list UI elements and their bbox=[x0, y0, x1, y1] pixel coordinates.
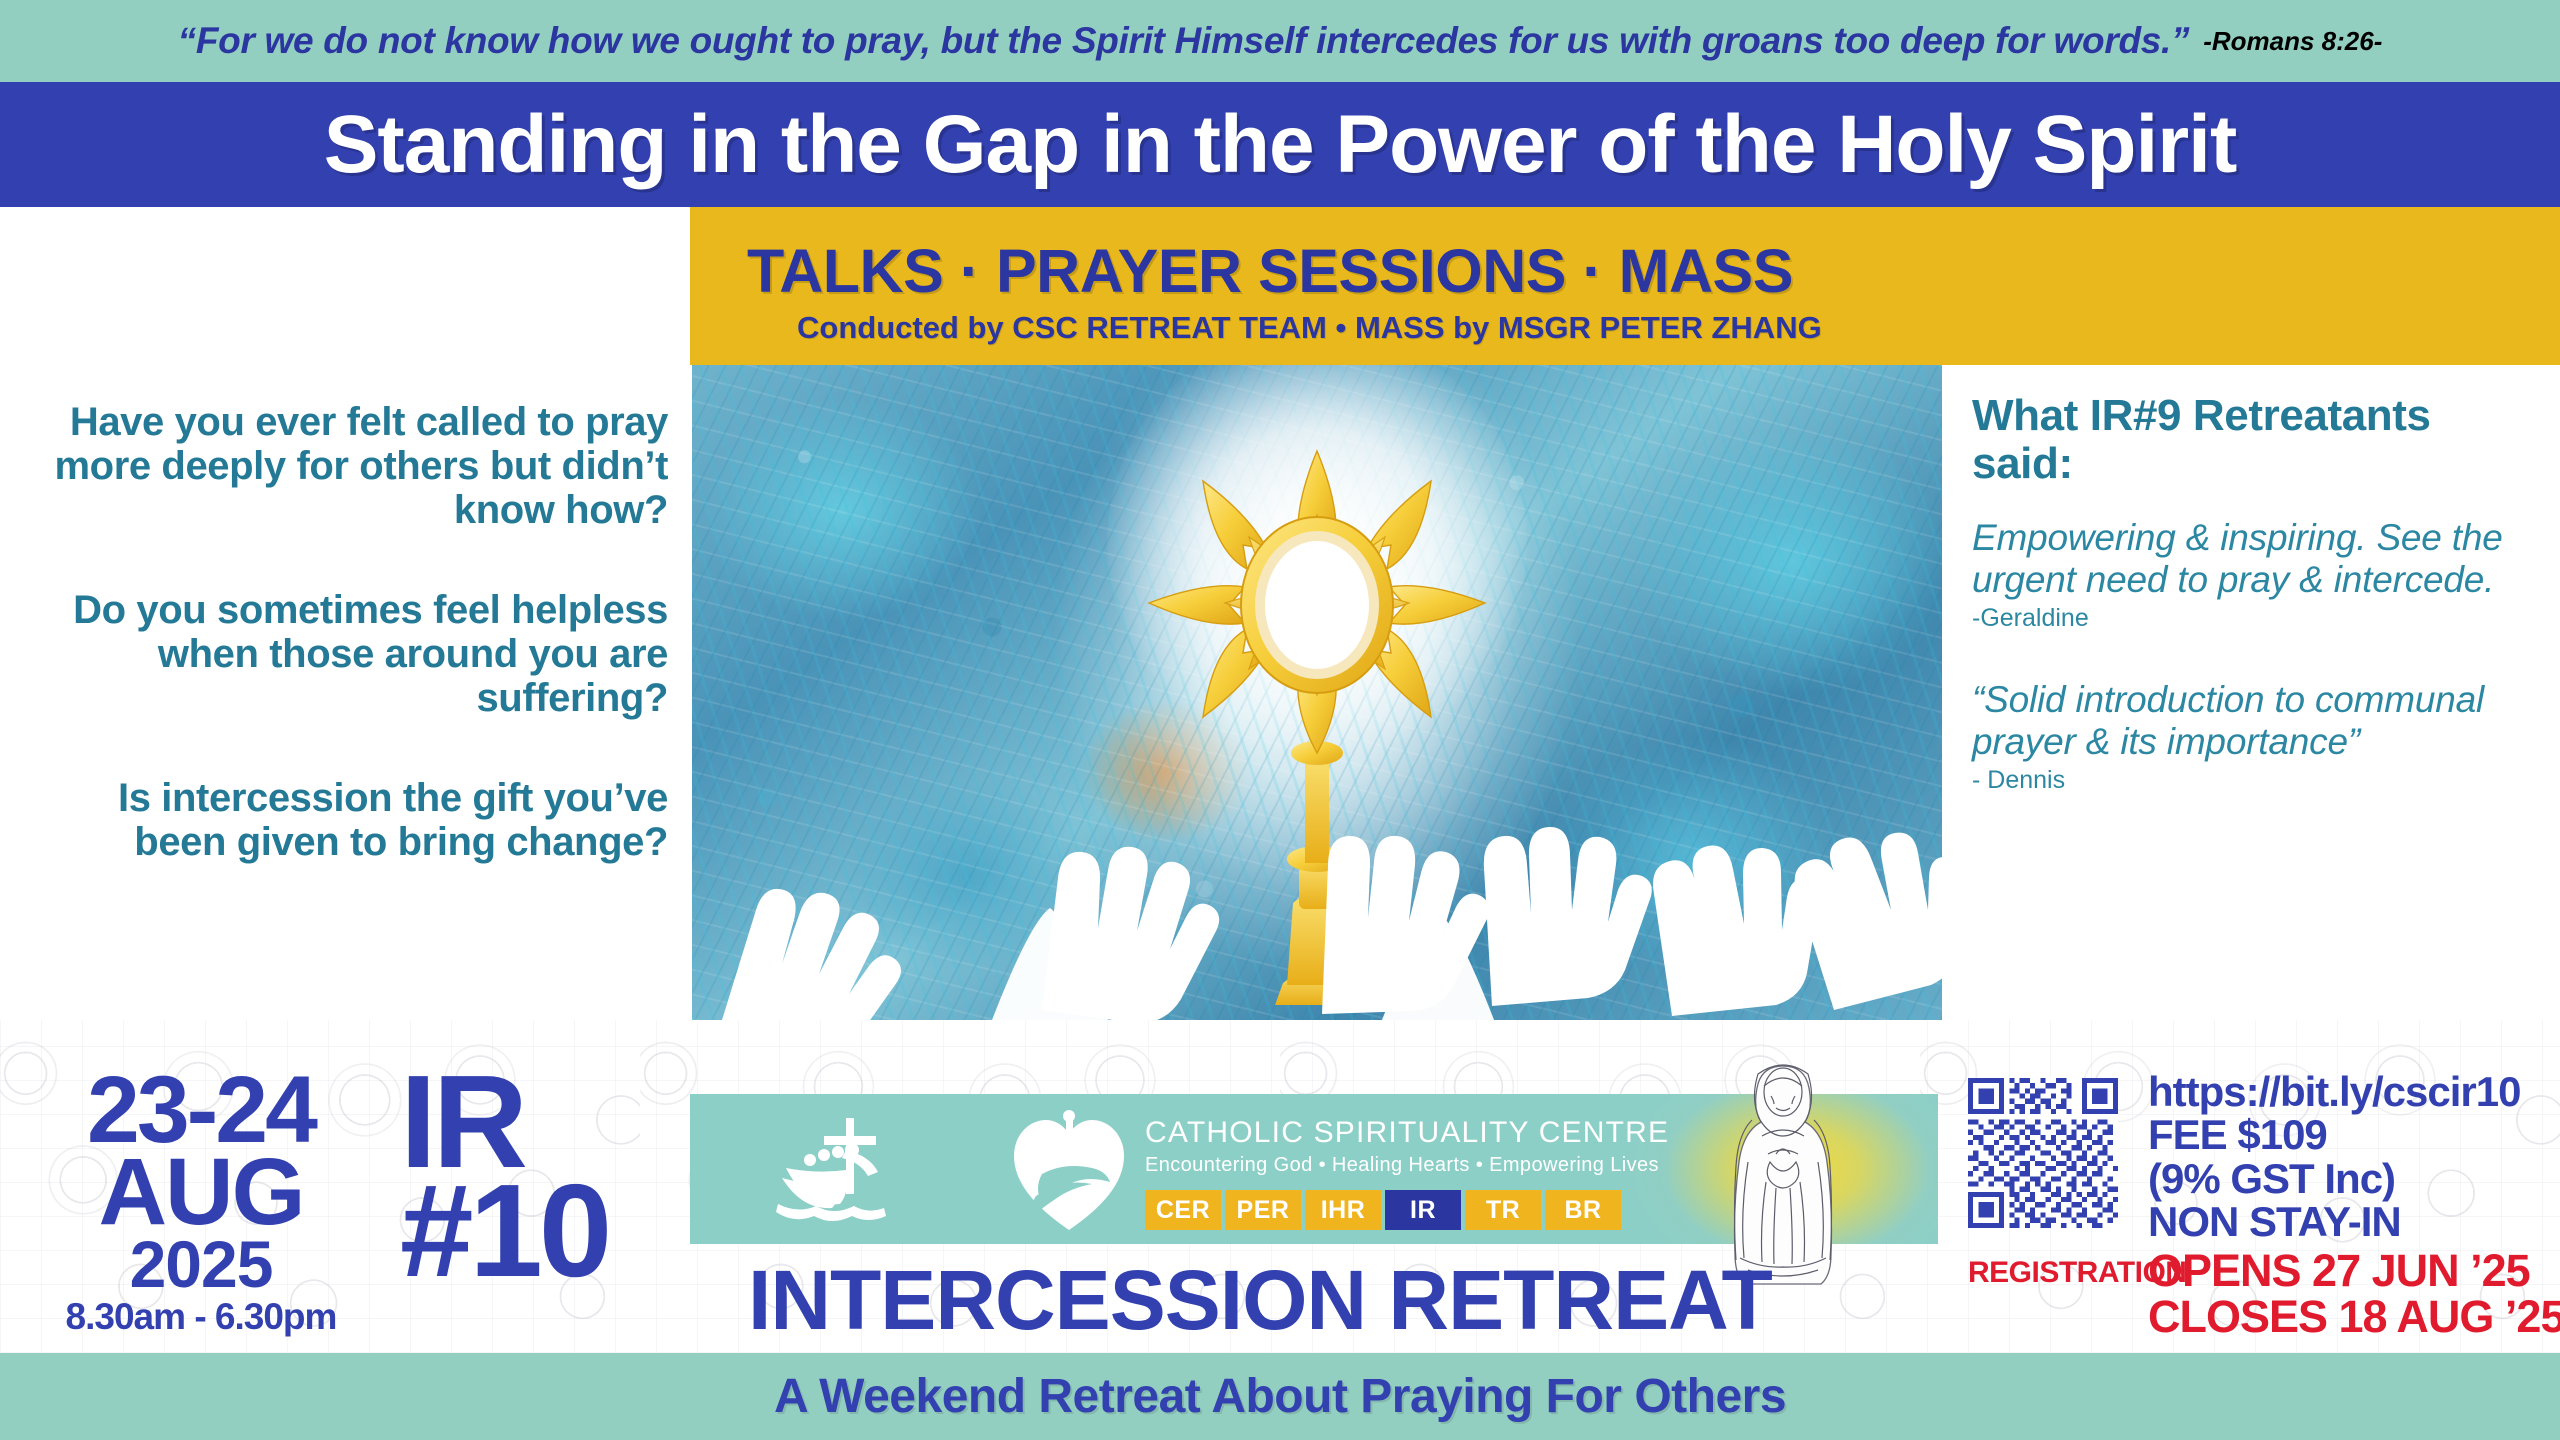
organization-tagline: Encountering God • Healing Hearts • Empo… bbox=[1145, 1154, 1659, 1177]
registration-gst: (9% GST Inc) bbox=[2148, 1157, 2520, 1200]
hero-image bbox=[692, 365, 1942, 1020]
program-headline: TALKS · PRAYER SESSIONS · MASS bbox=[747, 236, 1793, 306]
retreat-poster: “For we do not know how we ought to pray… bbox=[0, 0, 2560, 1440]
question-list: Have you ever felt called to pray more d… bbox=[18, 400, 668, 864]
raised-hands-illustration bbox=[692, 760, 1942, 1020]
testimonial-attribution: -Geraldine bbox=[1972, 604, 2542, 633]
question-item: Have you ever felt called to pray more d… bbox=[18, 400, 668, 532]
registration-details: https://bit.ly/cscir10 FEE $109 (9% GST … bbox=[2148, 1070, 2520, 1243]
testimonial-attribution: - Dennis bbox=[1972, 766, 2542, 795]
event-time: 8.30am - 6.30pm bbox=[36, 1298, 366, 1335]
testimonial-item: “Solid introduction to communal prayer &… bbox=[1972, 679, 2542, 795]
registration-opens: OPENS 27 JUN ’25 bbox=[2148, 1248, 2560, 1294]
program-tag-br[interactable]: BR bbox=[1545, 1190, 1621, 1230]
question-item: Is intercession the gift you’ve been giv… bbox=[18, 776, 668, 864]
scripture-strip: “For we do not know how we ought to pray… bbox=[0, 0, 2560, 82]
testimonial-quote: “Solid introduction to communal prayer &… bbox=[1972, 679, 2542, 764]
program-subline: Conducted by CSC RETREAT TEAM • MASS by … bbox=[797, 310, 1822, 346]
program-banner: TALKS · PRAYER SESSIONS · MASS Conducted… bbox=[690, 207, 2560, 365]
event-month: AUG bbox=[36, 1152, 366, 1234]
program-tag-row: CER PER IHR IR TR BR bbox=[1145, 1190, 1621, 1230]
program-tag-cer[interactable]: CER bbox=[1145, 1190, 1221, 1230]
testimonials-section: What IR#9 Retreatants said: Empowering &… bbox=[1972, 392, 2542, 795]
scripture-reference: -Romans 8:26- bbox=[2203, 26, 2382, 57]
sailboat-cross-icon bbox=[772, 1112, 892, 1227]
event-code-block: IR #10 bbox=[400, 1068, 608, 1287]
registration-url[interactable]: https://bit.ly/cscir10 bbox=[2148, 1070, 2520, 1113]
page-title: Standing in the Gap in the Power of the … bbox=[324, 98, 2237, 192]
event-date-block: 23-24 AUG 2025 8.30am - 6.30pm bbox=[36, 1070, 366, 1335]
registration-fee: FEE $109 bbox=[2148, 1113, 2520, 1156]
testimonial-quote: Empowering & inspiring. See the urgent n… bbox=[1972, 517, 2542, 602]
event-code-number: #10 bbox=[400, 1176, 608, 1287]
program-tag-tr[interactable]: TR bbox=[1465, 1190, 1541, 1230]
retreat-title: INTERCESSION RETREAT bbox=[748, 1252, 1772, 1349]
program-tag-per[interactable]: PER bbox=[1225, 1190, 1301, 1230]
program-tag-ir[interactable]: IR bbox=[1385, 1190, 1461, 1230]
registration-dates: OPENS 27 JUN ’25 CLOSES 18 AUG ’25 bbox=[2148, 1248, 2560, 1341]
testimonial-item: Empowering & inspiring. See the urgent n… bbox=[1972, 517, 2542, 633]
main-title-bar: Standing in the Gap in the Power of the … bbox=[0, 82, 2560, 207]
organization-name: CATHOLIC SPIRITUALITY CENTRE bbox=[1145, 1116, 1669, 1150]
program-tag-ihr[interactable]: IHR bbox=[1305, 1190, 1381, 1230]
registration-closes: CLOSES 18 AUG ’25 bbox=[2148, 1294, 2560, 1340]
scripture-quote: “For we do not know how we ought to pray… bbox=[178, 20, 2190, 62]
csc-heart-logo-icon bbox=[1012, 1108, 1127, 1230]
question-item: Do you sometimes feel helpless when thos… bbox=[18, 588, 668, 720]
qr-code-icon[interactable] bbox=[1968, 1078, 2118, 1228]
footer-tagline-strip: A Weekend Retreat About Praying For Othe… bbox=[0, 1353, 2560, 1440]
testimonials-heading: What IR#9 Retreatants said: bbox=[1972, 392, 2542, 489]
event-year: 2025 bbox=[36, 1233, 366, 1296]
registration-stay-type: NON STAY-IN bbox=[2148, 1200, 2520, 1243]
footer-tagline: A Weekend Retreat About Praying For Othe… bbox=[774, 1369, 1786, 1424]
